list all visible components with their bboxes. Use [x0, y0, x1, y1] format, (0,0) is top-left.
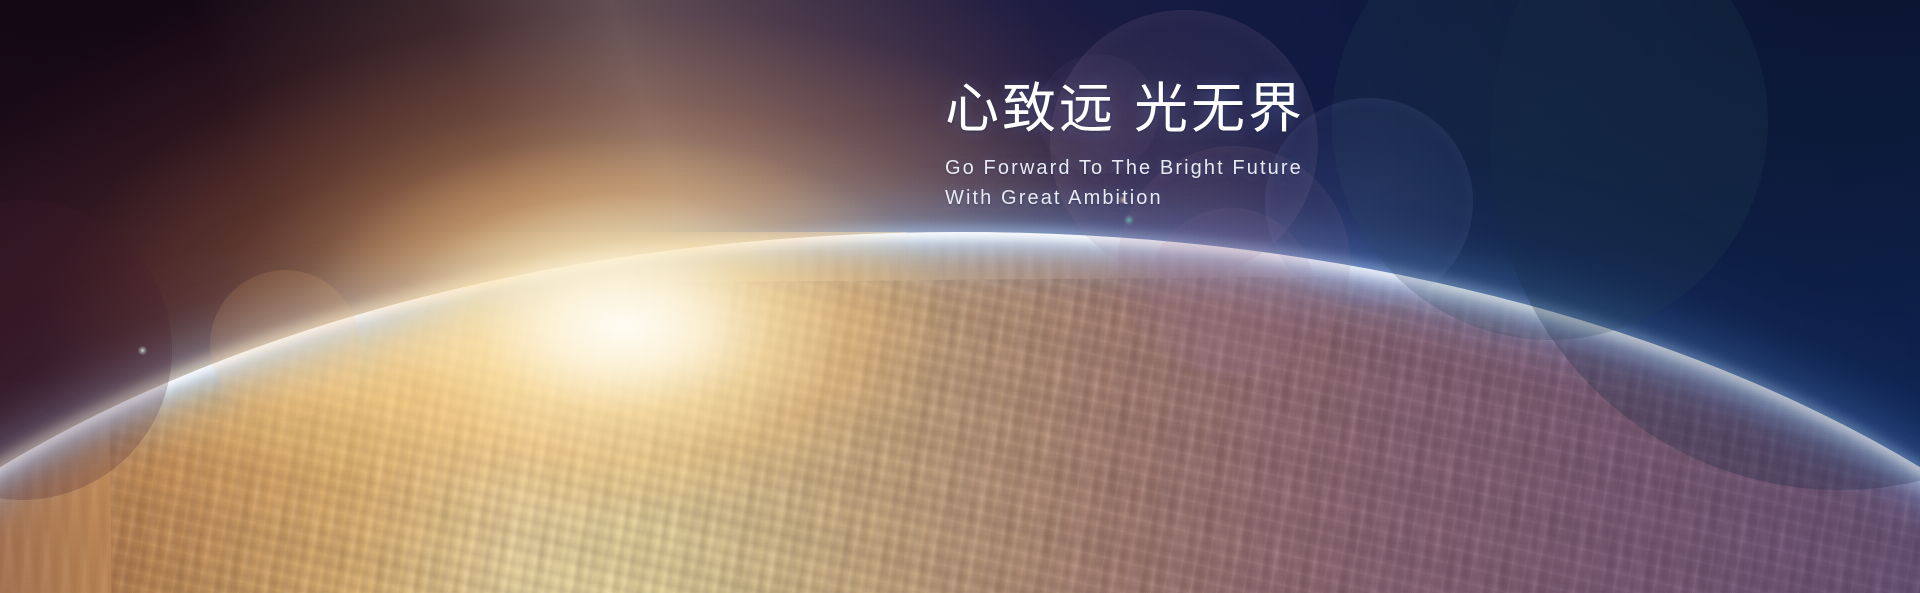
banner-subtitle: Go Forward To The Bright Future With Gre… [945, 153, 1305, 214]
banner-subtitle-line-1: Go Forward To The Bright Future [945, 153, 1305, 183]
hero-banner: 心致远 光无界 Go Forward To The Bright Future … [0, 0, 1920, 593]
banner-subtitle-line-2: With Great Ambition [945, 183, 1305, 213]
banner-text-block: 心致远 光无界 Go Forward To The Bright Future … [945, 78, 1305, 213]
banner-headline: 心致远 光无界 [945, 78, 1305, 141]
